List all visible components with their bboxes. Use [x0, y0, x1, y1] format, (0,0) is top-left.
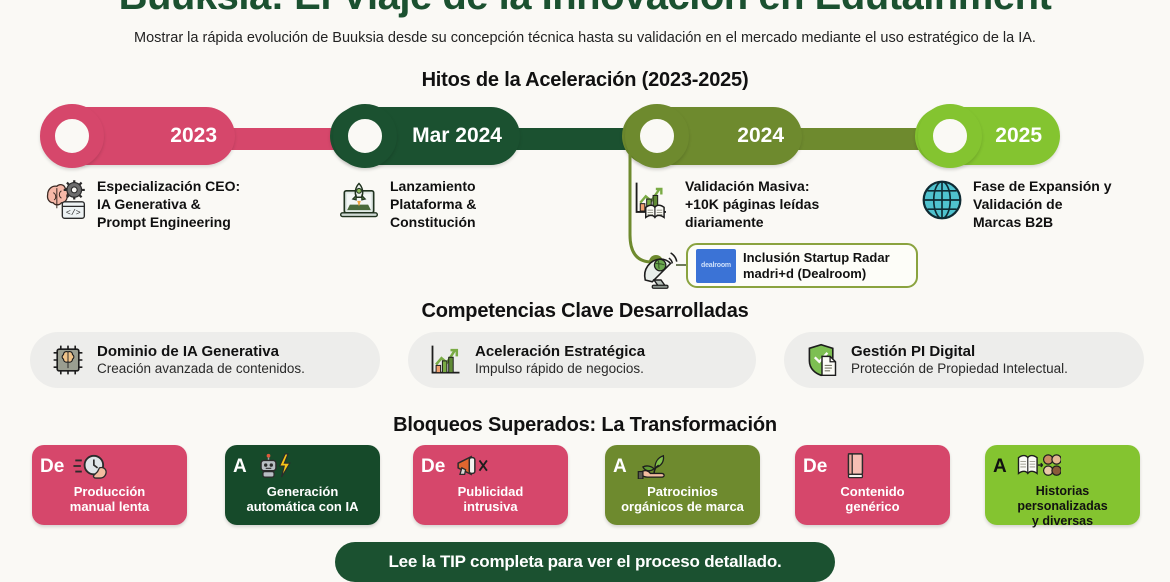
competency-card-aceleracion[interactable]: Aceleración Estratégica Impulso rápido d…: [408, 332, 756, 388]
competency-card-ia-generativa[interactable]: Dominio de IA Generativa Creación avanza…: [30, 332, 380, 388]
rocket-laptop-icon: [337, 178, 381, 222]
page-title: Buuksia: El Viaje de la Innovación en Ed…: [0, 0, 1170, 19]
timeline-node-mar2024[interactable]: [333, 104, 397, 168]
card-label: Historias personalizadas y diversas: [993, 484, 1132, 528]
svg-text:</>: </>: [66, 208, 81, 218]
milestone-text-2025: Fase de Expansión y Validación de Marcas…: [973, 178, 1112, 232]
cta-button[interactable]: Lee la TIP completa para ver el proceso …: [335, 542, 835, 582]
competency-subtitle: Creación avanzada de contenidos.: [97, 361, 305, 377]
card-tag: De: [40, 457, 64, 476]
chip-brain-icon: [50, 342, 86, 378]
cta-label: Lee la TIP completa para ver el proceso …: [388, 552, 781, 572]
milestone-text-2023: Especialización CEO: IA Generativa & Pro…: [97, 178, 240, 232]
card-tag: De: [421, 457, 445, 476]
dealroom-logo: dealroom: [696, 249, 736, 283]
transformation-card-publicidad-intrusiva[interactable]: De Publicidad intrusiva: [413, 445, 568, 525]
section-heading-competencies: Competencias Clave Desarrolladas: [0, 300, 1170, 323]
satellite-dish-icon: [640, 243, 682, 289]
dealroom-callout-text: Inclusión Startup Radar madri+d (Dealroo…: [743, 250, 890, 282]
card-label: Contenido genérico: [803, 484, 942, 515]
dealroom-callout[interactable]: dealroom Inclusión Startup Radar madri+d…: [686, 243, 918, 288]
robot-bolt-icon: [255, 453, 295, 479]
card-label: Patrocinios orgánicos de marca: [613, 484, 752, 515]
card-tag: A: [233, 457, 247, 476]
closed-book-icon: [835, 453, 875, 479]
milestone-text-2024: Validación Masiva: +10K páginas leídas d…: [685, 178, 819, 232]
card-label: Generación automática con IA: [233, 484, 372, 515]
transformation-card-generacion-ia[interactable]: A Generación automática con IA: [225, 445, 380, 525]
card-tag: A: [993, 457, 1007, 476]
card-tag: A: [613, 457, 627, 476]
growth-chart-icon: [428, 342, 464, 378]
transformation-card-historias-personalizadas[interactable]: A Historias personalizadas y diversas: [985, 445, 1140, 525]
timeline-node-2025[interactable]: [918, 104, 982, 168]
clock-hand-icon: [72, 453, 112, 479]
competency-card-gestion-pi[interactable]: Gestión PI Digital Protección de Propied…: [784, 332, 1144, 388]
timeline-label-2023: 2023: [170, 124, 217, 148]
timeline-label-2024: 2024: [737, 124, 784, 148]
timeline-label-mar2024: Mar 2024: [412, 124, 502, 148]
transformation-card-patrocinios-organicos[interactable]: A Patrocinios orgánicos de marca: [605, 445, 760, 525]
milestone-item-2025: Fase de Expansión y Validación de Marcas…: [920, 178, 1150, 232]
book-people-icon: [1015, 453, 1061, 479]
competency-title: Aceleración Estratégica: [475, 343, 645, 360]
transformation-card-produccion-manual[interactable]: De Producción manual lenta: [32, 445, 187, 525]
globe-icon: [920, 178, 964, 222]
card-label: Producción manual lenta: [40, 484, 179, 515]
competency-subtitle: Protección de Propiedad Intelectual.: [851, 361, 1068, 377]
shield-document-icon: [804, 342, 840, 378]
growth-chart-book-icon: [632, 178, 676, 222]
card-label: Publicidad intrusiva: [421, 484, 560, 515]
milestone-item-2024: Validación Masiva: +10K páginas leídas d…: [632, 178, 897, 232]
card-tag: De: [803, 457, 827, 476]
section-heading-milestones: Hitos de la Aceleración (2023-2025): [0, 69, 1170, 92]
timeline-node-2023[interactable]: [40, 104, 104, 168]
milestone-item-2023: </> Especialización CEO: IA Generativa &…: [44, 178, 294, 232]
milestone-item-mar2024: Lanzamiento Plataforma & Constitución: [337, 178, 567, 232]
competency-title: Gestión PI Digital: [851, 343, 1068, 360]
infographic-root: Buuksia: El Viaje de la Innovación en Ed…: [0, 0, 1170, 570]
timeline-label-2025: 2025: [995, 124, 1042, 148]
competency-subtitle: Impulso rápido de negocios.: [475, 361, 645, 377]
megaphone-x-icon: [453, 453, 493, 479]
transformation-card-contenido-generico[interactable]: De Contenido genérico: [795, 445, 950, 525]
competency-title: Dominio de IA Generativa: [97, 343, 305, 360]
brain-gear-code-icon: </>: [44, 178, 88, 222]
section-heading-blockers: Bloqueos Superados: La Transformación: [0, 414, 1170, 437]
milestone-text-mar2024: Lanzamiento Plataforma & Constitución: [390, 178, 476, 232]
seedling-hand-icon: [635, 453, 675, 479]
page-subtitle: Mostrar la rápida evolución de Buuksia d…: [0, 30, 1170, 46]
